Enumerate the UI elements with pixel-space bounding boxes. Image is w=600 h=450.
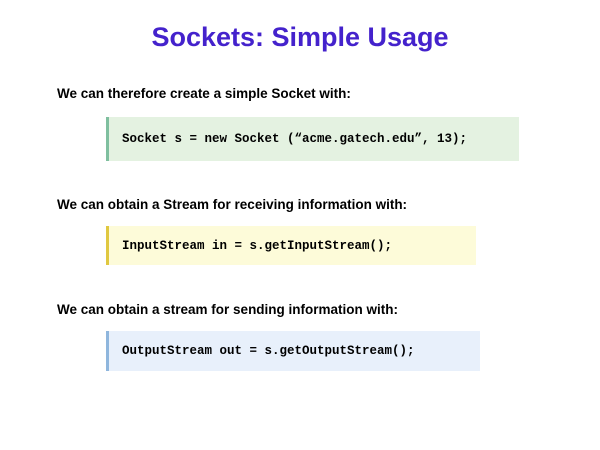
slide-canvas: Sockets: Simple Usage We can therefore c… [0, 0, 600, 450]
page-title: Sockets: Simple Usage [0, 22, 600, 53]
code-block-socket-create: Socket s = new Socket (“acme.gatech.edu”… [106, 117, 519, 161]
section-1-prompt: We can therefore create a simple Socket … [57, 86, 351, 101]
code-block-output-stream: OutputStream out = s.getOutputStream(); [106, 331, 480, 371]
code-text: InputStream in = s.getInputStream(); [122, 239, 392, 253]
section-2-prompt: We can obtain a Stream for receiving inf… [57, 197, 407, 212]
code-block-input-stream: InputStream in = s.getInputStream(); [106, 226, 476, 265]
section-3-prompt: We can obtain a stream for sending infor… [57, 302, 398, 317]
code-text: OutputStream out = s.getOutputStream(); [122, 344, 415, 358]
code-text: Socket s = new Socket (“acme.gatech.edu”… [122, 132, 467, 146]
